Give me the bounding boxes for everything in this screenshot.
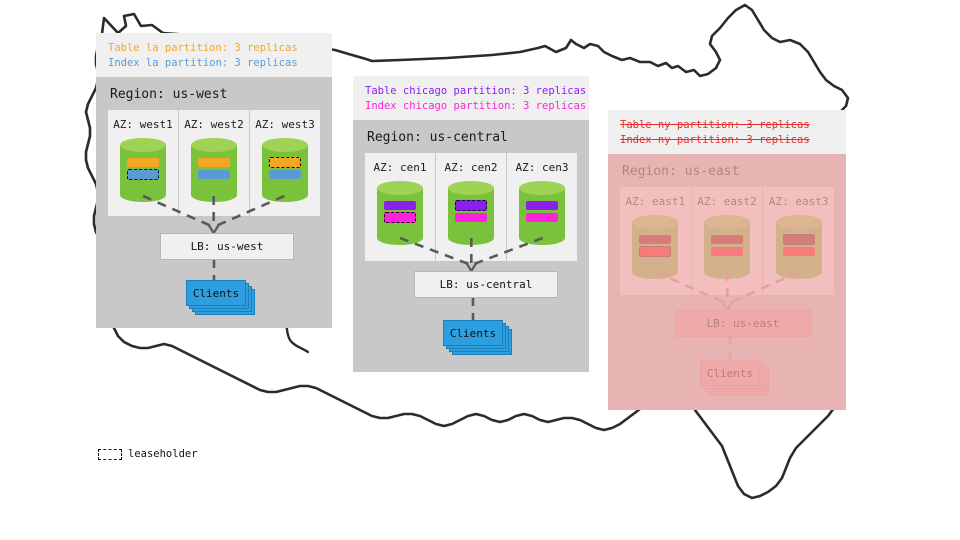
az-cell-cen2[interactable]: AZ: cen2 xyxy=(436,153,507,261)
cylinder-top xyxy=(191,138,237,152)
replica-shelf xyxy=(198,170,230,179)
legend-label: leaseholder xyxy=(128,448,198,460)
replica-shelf-leaseholder xyxy=(455,200,487,211)
region-title-us-central: Region: us-central xyxy=(353,120,589,153)
az-cell-cen1[interactable]: AZ: cen1 xyxy=(365,153,436,261)
replica-cylinder xyxy=(776,215,822,277)
clients-box-us-central[interactable]: Clients xyxy=(443,320,511,354)
clients-label: Clients xyxy=(186,280,246,306)
load-balancer-us-west[interactable]: LB: us-west xyxy=(160,233,294,260)
region-title-us-east: Region: us-east xyxy=(608,154,846,187)
replica-cylinder xyxy=(191,138,237,200)
cylinder-top xyxy=(262,138,308,152)
diagram-canvas: leaseholder Table la partition: 3 replic… xyxy=(0,0,960,540)
replica-shelf-leaseholder xyxy=(384,212,416,223)
region-title-us-west: Region: us-west xyxy=(96,77,332,110)
replica-shelf-leaseholder xyxy=(783,234,815,245)
replica-shelf xyxy=(783,247,815,256)
partition-note-line: Index chicago partition: 3 replicas xyxy=(365,99,577,114)
partition-note-band-us-east: Table ny partition: 3 replicasIndex ny p… xyxy=(608,110,846,154)
replica-cylinder xyxy=(632,215,678,277)
cylinder-top xyxy=(704,215,750,229)
legend: leaseholder xyxy=(98,448,198,460)
replica-cylinder xyxy=(377,181,423,243)
clients-label: Clients xyxy=(700,360,760,386)
partition-note-line: Index la partition: 3 replicas xyxy=(108,56,320,71)
az-label: AZ: east2 xyxy=(697,195,757,208)
az-cell-west1[interactable]: AZ: west1 xyxy=(108,110,179,216)
replica-shelf-leaseholder xyxy=(269,157,301,168)
partition-note-line: Table chicago partition: 3 replicas xyxy=(365,84,577,99)
cylinder-top xyxy=(448,181,494,195)
partition-note-band-us-central: Table chicago partition: 3 replicasIndex… xyxy=(353,76,589,120)
clients-label: Clients xyxy=(443,320,503,346)
replica-shelf xyxy=(384,201,416,210)
replica-shelf xyxy=(526,201,558,210)
replica-shelf xyxy=(269,170,301,179)
az-label: AZ: east3 xyxy=(769,195,829,208)
load-balancer-us-east[interactable]: LB: us-east xyxy=(675,310,811,337)
az-cell-cen3[interactable]: AZ: cen3 xyxy=(507,153,577,261)
partition-note-line: Table ny partition: 3 replicas xyxy=(620,118,834,133)
cylinder-top xyxy=(776,215,822,229)
cylinder-top xyxy=(120,138,166,152)
az-label: AZ: east1 xyxy=(626,195,686,208)
partition-note-band-us-west: Table la partition: 3 replicasIndex la p… xyxy=(96,33,332,77)
az-row-us-east: AZ: east1AZ: east2AZ: east3 xyxy=(620,187,834,295)
az-row-us-central: AZ: cen1AZ: cen2AZ: cen3 xyxy=(365,153,577,261)
replica-shelf xyxy=(711,247,743,256)
clients-box-us-west[interactable]: Clients xyxy=(186,280,254,314)
replica-cylinder xyxy=(120,138,166,200)
az-cell-east1[interactable]: AZ: east1 xyxy=(620,187,692,295)
partition-note-line: Table la partition: 3 replicas xyxy=(108,41,320,56)
az-cell-west3[interactable]: AZ: west3 xyxy=(250,110,320,216)
az-label: AZ: cen3 xyxy=(516,161,569,174)
replica-cylinder xyxy=(519,181,565,243)
replica-shelf-leaseholder xyxy=(639,246,671,257)
cylinder-top xyxy=(632,215,678,229)
replica-shelf xyxy=(127,158,159,167)
replica-shelf xyxy=(526,213,558,222)
replica-shelf-leaseholder xyxy=(127,169,159,180)
replica-shelf xyxy=(198,158,230,167)
replica-shelf xyxy=(711,235,743,244)
az-row-us-west: AZ: west1AZ: west2AZ: west3 xyxy=(108,110,320,216)
az-label: AZ: west2 xyxy=(184,118,244,131)
az-cell-east2[interactable]: AZ: east2 xyxy=(692,187,764,295)
load-balancer-us-central[interactable]: LB: us-central xyxy=(414,271,558,298)
replica-cylinder xyxy=(448,181,494,243)
az-label: AZ: cen1 xyxy=(374,161,427,174)
az-cell-east3[interactable]: AZ: east3 xyxy=(763,187,834,295)
leaseholder-swatch-icon xyxy=(98,449,122,460)
az-label: AZ: west1 xyxy=(113,118,173,131)
partition-note-line: Index ny partition: 3 replicas xyxy=(620,133,834,148)
replica-shelf xyxy=(455,213,487,222)
replica-cylinder xyxy=(262,138,308,200)
az-cell-west2[interactable]: AZ: west2 xyxy=(179,110,250,216)
clients-box-us-east[interactable]: Clients xyxy=(700,360,768,394)
cylinder-top xyxy=(377,181,423,195)
az-label: AZ: cen2 xyxy=(445,161,498,174)
replica-shelf xyxy=(639,235,671,244)
cylinder-top xyxy=(519,181,565,195)
az-label: AZ: west3 xyxy=(255,118,315,131)
replica-cylinder xyxy=(704,215,750,277)
